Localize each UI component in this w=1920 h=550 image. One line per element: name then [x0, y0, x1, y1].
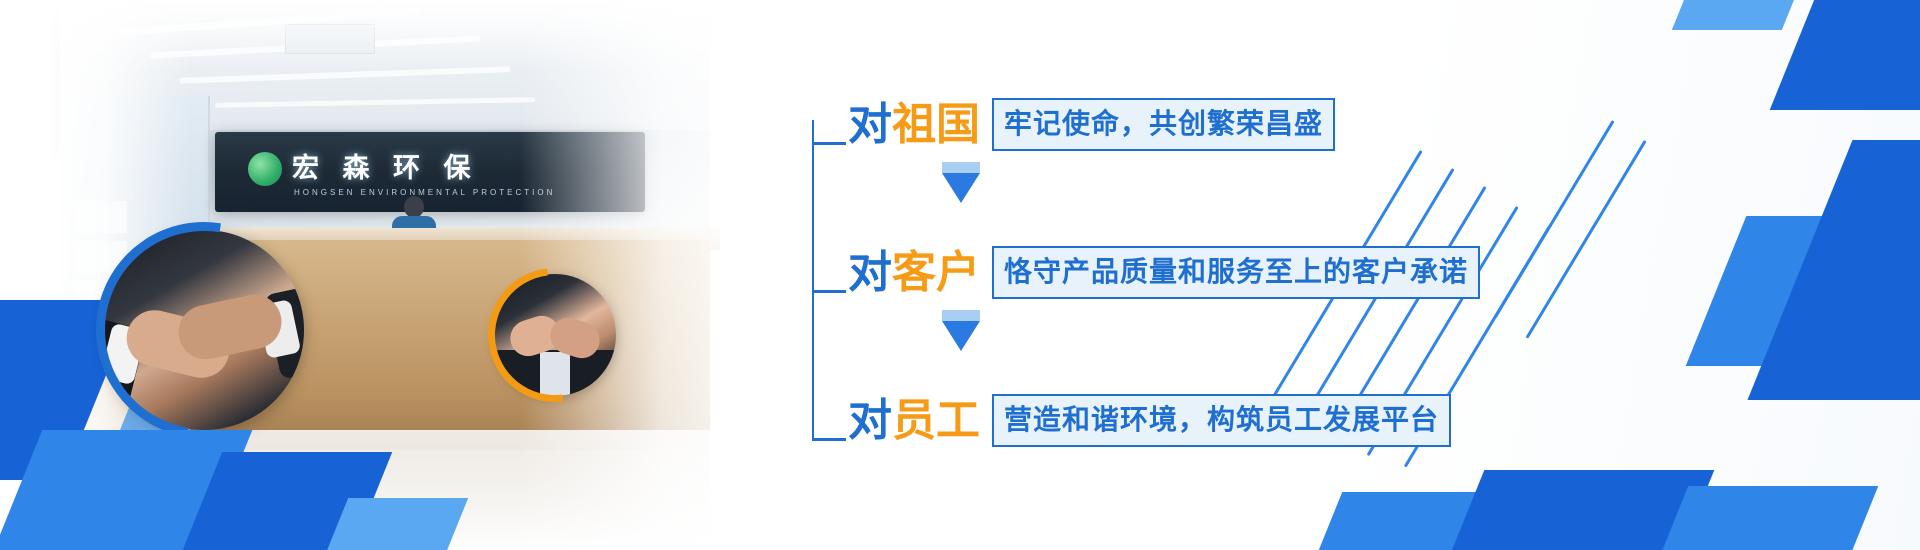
- bracket-vertical-line: [812, 120, 814, 440]
- slogan-lead-prefix: 对: [848, 248, 892, 297]
- slogan-block: 对祖国 牢记使命，共创繁荣昌盛 对客户 恪守产品质量和服务至上的客户承诺 对员工…: [0, 0, 1920, 550]
- bracket-tick-1: [812, 142, 846, 145]
- slogan-row-customer: 对客户 恪守产品质量和服务至上的客户承诺: [848, 246, 1480, 299]
- slogan-lead-prefix: 对: [848, 396, 892, 445]
- slogan-lead-highlight: 员工: [892, 396, 980, 445]
- slogan-lead-highlight: 客户: [892, 248, 980, 297]
- slogan-lead-customer: 对客户: [848, 247, 980, 299]
- down-arrow-icon: [942, 162, 980, 203]
- slogan-lead-country: 对祖国: [848, 99, 980, 151]
- slogan-lead-prefix: 对: [848, 100, 892, 149]
- slogan-chip-customer: 恪守产品质量和服务至上的客户承诺: [992, 246, 1480, 299]
- arrow-cap: [942, 310, 980, 321]
- company-culture-banner: 宏 森 环 保 HONGSEN ENVIRONMENTAL PROTECTION: [0, 0, 1920, 550]
- slogan-row-employee: 对员工 营造和谐环境，构筑员工发展平台: [848, 394, 1451, 447]
- slogan-lead-highlight: 祖国: [892, 100, 980, 149]
- slogan-row-country: 对祖国 牢记使命，共创繁荣昌盛: [848, 98, 1335, 151]
- arrow-cap: [942, 162, 980, 173]
- bracket-tick-2: [812, 290, 846, 293]
- slogan-chip-employee: 营造和谐环境，构筑员工发展平台: [992, 394, 1451, 447]
- arrow-triangle: [942, 173, 980, 203]
- slogan-lead-employee: 对员工: [848, 395, 980, 447]
- arrow-triangle: [942, 321, 980, 351]
- down-arrow-icon: [942, 310, 980, 351]
- slogan-chip-country: 牢记使命，共创繁荣昌盛: [992, 98, 1335, 151]
- bracket-tick-3: [812, 438, 846, 441]
